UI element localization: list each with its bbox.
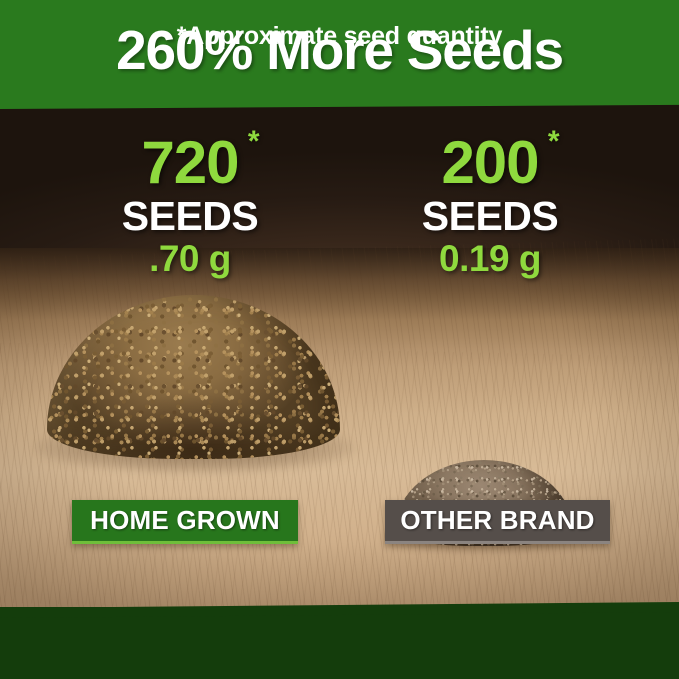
seed-unit-label-other-brand: SEEDS (360, 195, 620, 238)
footer-band (0, 607, 679, 679)
seed-weight-home-grown: .70 g (60, 239, 320, 280)
stat-block-home-grown: 720 * SEEDS .70 g (60, 133, 320, 280)
badge-home-grown: HOME GROWN (72, 500, 298, 544)
asterisk-marker: * (548, 127, 559, 157)
asterisk-marker: * (248, 127, 259, 157)
seed-count-value: 200 (441, 129, 538, 196)
seed-count-other-brand: 200 * (441, 133, 538, 193)
stat-block-other-brand: 200 * SEEDS 0.19 g (360, 133, 620, 280)
seed-unit-label-home-grown: SEEDS (60, 195, 320, 238)
footnote-text: *Approximate seed quantity (0, 0, 679, 72)
seed-comparison-infographic: 260% More Seeds 720 * SEEDS .70 g 200 * … (0, 0, 679, 679)
seed-count-value: 720 (141, 129, 238, 196)
seed-weight-other-brand: 0.19 g (360, 239, 620, 280)
seed-count-home-grown: 720 * (141, 133, 238, 193)
badge-other-brand: OTHER BRAND (385, 500, 610, 544)
